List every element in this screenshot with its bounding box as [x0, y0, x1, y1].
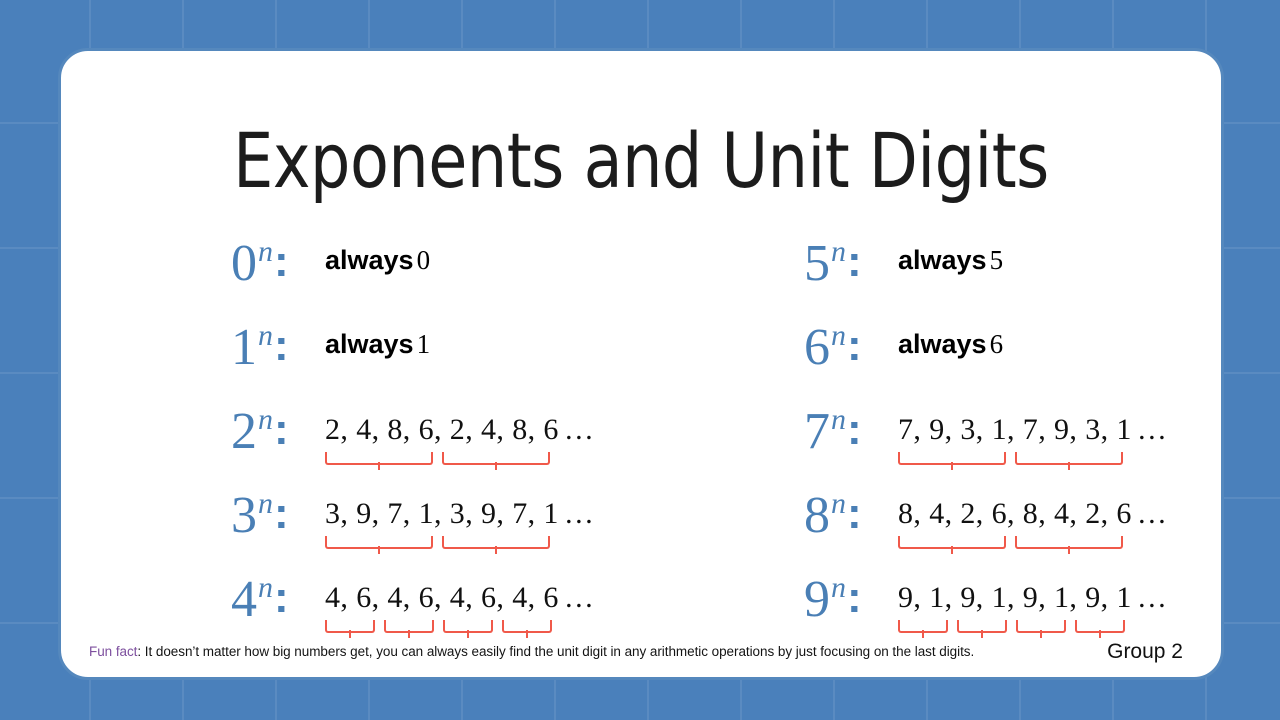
cycle-brace: [898, 452, 1006, 465]
sequence-text: 7, 9, 3, 1, 7, 9, 3, 1: [898, 413, 1132, 446]
exponent-superscript: n: [831, 560, 846, 616]
exponent-row: 3n:3, 9, 7, 1, 3, 9, 7, 1…: [231, 488, 641, 572]
sequence-text: 3, 9, 7, 1, 3, 9, 7, 1: [325, 497, 559, 530]
always-value: always1: [325, 330, 430, 360]
page-title: Exponents and Unit Digits: [102, 123, 1181, 199]
cycle-braces: [898, 452, 1132, 466]
exponent-base-4: 4n:: [231, 572, 321, 628]
base-digit: 3: [231, 488, 257, 544]
exponent-superscript: n: [258, 224, 273, 280]
sequence-text: 2, 4, 8, 6, 2, 4, 8, 6: [325, 413, 559, 446]
fun-fact-text: : It doesn’t matter how big numbers get,…: [137, 644, 974, 659]
sequence-text: 9, 1, 9, 1, 9, 1, 9, 1: [898, 581, 1132, 614]
always-result-digit: 5: [987, 245, 1004, 275]
row-value: 7, 9, 3, 1, 7, 9, 3, 1…: [898, 404, 1168, 446]
cycle-brace: [384, 620, 434, 633]
cycle-brace: [1015, 536, 1123, 549]
fun-fact-label: Fun fact: [89, 644, 137, 659]
sequence-ellipsis: …: [559, 413, 595, 446]
always-value: always0: [325, 246, 430, 276]
exponent-superscript: n: [831, 392, 846, 448]
base-digit: 5: [804, 236, 830, 292]
colon-separator: :: [847, 402, 862, 458]
colon-separator: :: [274, 486, 289, 542]
group-label: Group 2: [1107, 640, 1183, 664]
base-digit: 6: [804, 320, 830, 376]
exponent-row: 0n:always0: [231, 236, 641, 320]
row-value: always1: [325, 320, 430, 360]
exponent-base-6: 6n:: [804, 320, 894, 376]
cycle-braces: [898, 536, 1132, 550]
sequence-text: 4, 6, 4, 6, 4, 6, 4, 6: [325, 581, 559, 614]
cycle-brace: [442, 452, 550, 465]
exponent-base-5: 5n:: [804, 236, 894, 292]
base-digit: 9: [804, 572, 830, 628]
exponent-row: 8n:8, 4, 2, 6, 8, 4, 2, 6…: [804, 488, 1221, 572]
sequence-ellipsis: …: [1132, 413, 1168, 446]
cycle-brace: [502, 620, 552, 633]
cycle-brace: [325, 536, 433, 549]
cycle-brace: [325, 620, 375, 633]
cycle-brace: [1015, 452, 1123, 465]
exponent-superscript: n: [258, 308, 273, 364]
exponent-base-0: 0n:: [231, 236, 321, 292]
always-label: always: [898, 245, 987, 275]
colon-separator: :: [847, 318, 862, 374]
cycle-braces: [325, 536, 559, 550]
always-result-digit: 1: [414, 329, 431, 359]
sequence-ellipsis: …: [1132, 497, 1168, 530]
exponent-base-7: 7n:: [804, 404, 894, 460]
exponent-row: 7n:7, 9, 3, 1, 7, 9, 3, 1…: [804, 404, 1221, 488]
colon-separator: :: [274, 234, 289, 290]
unit-digit-sequence: 4, 6, 4, 6, 4, 6, 4, 6…: [325, 582, 595, 614]
colon-separator: :: [274, 570, 289, 626]
base-digit: 7: [804, 404, 830, 460]
exponent-base-3: 3n:: [231, 488, 321, 544]
column-right: 5n:always56n:always67n:7, 9, 3, 1, 7, 9,…: [641, 236, 1221, 656]
exponent-row: 6n:always6: [804, 320, 1221, 404]
cycle-brace: [1075, 620, 1125, 633]
colon-separator: :: [274, 402, 289, 458]
exponent-superscript: n: [258, 476, 273, 532]
slide-card: Exponents and Unit Digits 0n:always01n:a…: [58, 48, 1224, 680]
sequence-ellipsis: …: [559, 497, 595, 530]
base-digit: 8: [804, 488, 830, 544]
base-digit: 2: [231, 404, 257, 460]
base-digit: 4: [231, 572, 257, 628]
always-value: always6: [898, 330, 1003, 360]
row-value: 2, 4, 8, 6, 2, 4, 8, 6…: [325, 404, 595, 446]
exponent-superscript: n: [831, 476, 846, 532]
exponent-superscript: n: [831, 224, 846, 280]
unit-digit-sequence: 7, 9, 3, 1, 7, 9, 3, 1…: [898, 414, 1168, 446]
cycle-brace: [1016, 620, 1066, 633]
cycle-braces: [325, 452, 559, 466]
sequence-ellipsis: …: [1132, 581, 1168, 614]
unit-digit-sequence: 3, 9, 7, 1, 3, 9, 7, 1…: [325, 498, 595, 530]
exponent-superscript: n: [258, 392, 273, 448]
cycle-brace: [442, 536, 550, 549]
unit-digit-sequence: 8, 4, 2, 6, 8, 4, 2, 6…: [898, 498, 1168, 530]
exponent-base-9: 9n:: [804, 572, 894, 628]
base-digit: 1: [231, 320, 257, 376]
unit-digit-sequence: 9, 1, 9, 1, 9, 1, 9, 1…: [898, 582, 1168, 614]
fun-fact-note: Fun fact: It doesn’t matter how big numb…: [89, 644, 974, 659]
exponent-base-8: 8n:: [804, 488, 894, 544]
row-value: 3, 9, 7, 1, 3, 9, 7, 1…: [325, 488, 595, 530]
exponent-superscript: n: [831, 308, 846, 364]
colon-separator: :: [847, 234, 862, 290]
exponent-row: 1n:always1: [231, 320, 641, 404]
always-result-digit: 0: [414, 245, 431, 275]
row-value: 8, 4, 2, 6, 8, 4, 2, 6…: [898, 488, 1168, 530]
cycle-brace: [957, 620, 1007, 633]
colon-separator: :: [274, 318, 289, 374]
cycle-brace: [325, 452, 433, 465]
always-label: always: [898, 329, 987, 359]
row-value: always6: [898, 320, 1003, 360]
exponent-superscript: n: [258, 560, 273, 616]
always-value: always5: [898, 246, 1003, 276]
column-left: 0n:always01n:always12n:2, 4, 8, 6, 2, 4,…: [61, 236, 641, 656]
sequence-text: 8, 4, 2, 6, 8, 4, 2, 6: [898, 497, 1132, 530]
cycle-braces: [325, 620, 561, 634]
always-label: always: [325, 329, 414, 359]
row-value: 4, 6, 4, 6, 4, 6, 4, 6…: [325, 572, 595, 614]
exponent-base-2: 2n:: [231, 404, 321, 460]
colon-separator: :: [847, 486, 862, 542]
exponent-base-1: 1n:: [231, 320, 321, 376]
exponent-row: 2n:2, 4, 8, 6, 2, 4, 8, 6…: [231, 404, 641, 488]
always-label: always: [325, 245, 414, 275]
cycle-braces: [898, 620, 1134, 634]
unit-digit-sequence: 2, 4, 8, 6, 2, 4, 8, 6…: [325, 414, 595, 446]
always-result-digit: 6: [987, 329, 1004, 359]
base-digit: 0: [231, 236, 257, 292]
cycle-brace: [898, 620, 948, 633]
row-value: 9, 1, 9, 1, 9, 1, 9, 1…: [898, 572, 1168, 614]
sequence-ellipsis: …: [559, 581, 595, 614]
row-value: always5: [898, 236, 1003, 276]
exponent-row: 5n:always5: [804, 236, 1221, 320]
row-value: always0: [325, 236, 430, 276]
cycle-brace: [898, 536, 1006, 549]
cycle-brace: [443, 620, 493, 633]
colon-separator: :: [847, 570, 862, 626]
exponent-columns: 0n:always01n:always12n:2, 4, 8, 6, 2, 4,…: [61, 236, 1221, 656]
